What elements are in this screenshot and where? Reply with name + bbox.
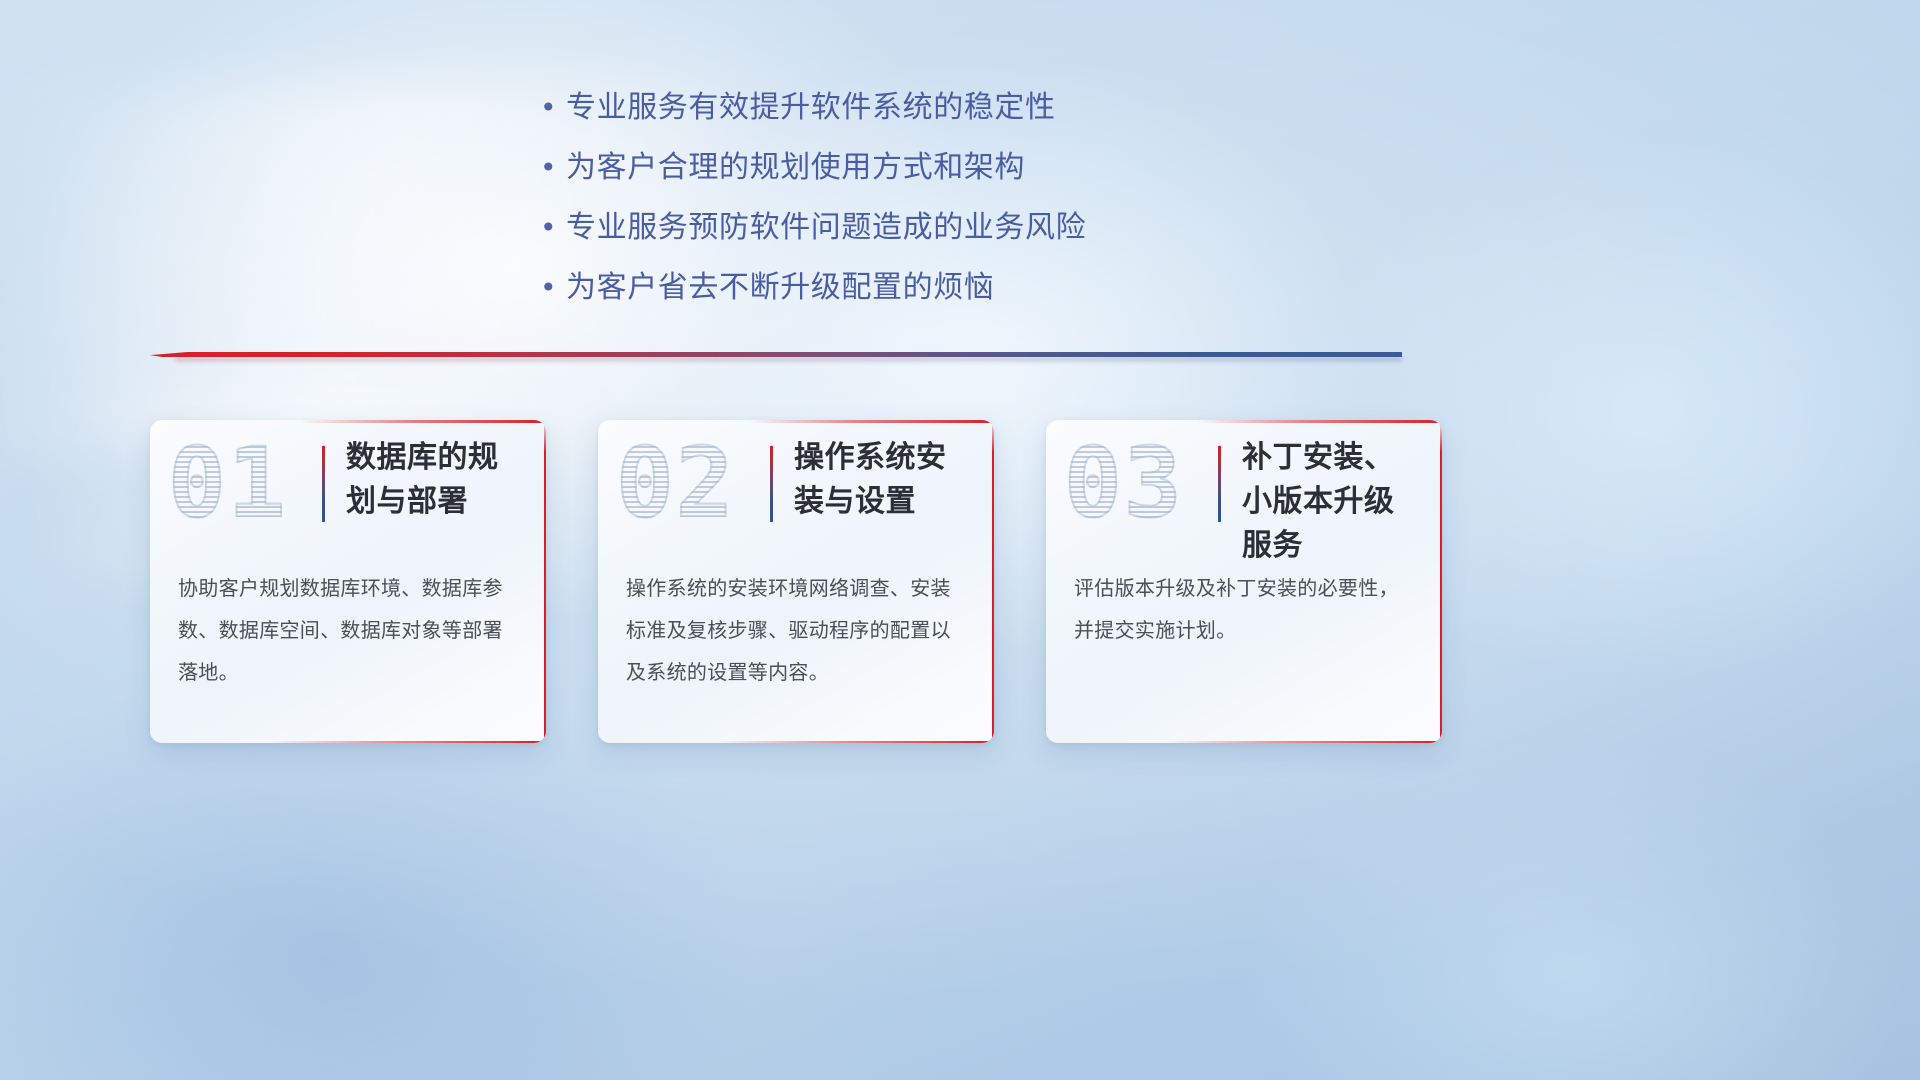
bullet-text: 为客户省去不断升级配置的烦恼 xyxy=(566,268,994,308)
card-title: 补丁安装、小版本升级服务 xyxy=(1242,436,1422,568)
bullet-dot-icon: • xyxy=(540,208,566,248)
card-divider-bar xyxy=(322,446,325,522)
bullet-dot-icon: • xyxy=(540,268,566,308)
card-number: 01 xyxy=(168,428,288,538)
bullet-dot-icon: • xyxy=(540,88,566,128)
card-02[interactable]: 02 操作系统安装与设置 操作系统的安装环境网络调查、安装标准及复核步骤、驱动程… xyxy=(598,420,994,743)
card-divider-bar xyxy=(770,446,773,522)
card-body-text: 评估版本升级及补丁安装的必要性，并提交实施计划。 xyxy=(1074,568,1418,652)
card-header: 03 补丁安装、小版本升级服务 xyxy=(1046,420,1442,548)
bullet-text: 专业服务预防软件问题造成的业务风险 xyxy=(566,208,1086,248)
card-body-text: 协助客户规划数据库环境、数据库参数、数据库空间、数据库对象等部署落地。 xyxy=(178,568,522,694)
card-01[interactable]: 01 数据库的规划与部署 协助客户规划数据库环境、数据库参数、数据库空间、数据库… xyxy=(150,420,546,743)
card-body-text: 操作系统的安装环境网络调查、安装标准及复核步骤、驱动程序的配置以及系统的设置等内… xyxy=(626,568,970,694)
card-bottom-accent xyxy=(269,741,546,744)
bullet-dot-icon: • xyxy=(540,148,566,188)
card-number: 02 xyxy=(616,428,736,538)
card-row: 01 数据库的规划与部署 协助客户规划数据库环境、数据库参数、数据库空间、数据库… xyxy=(0,420,1920,760)
bullet-text: 专业服务有效提升软件系统的稳定性 xyxy=(566,88,1056,128)
bullet-list: • 专业服务有效提升软件系统的稳定性 • 为客户合理的规划使用方式和架构 • 专… xyxy=(540,88,1360,328)
card-bottom-accent xyxy=(717,741,994,744)
list-item: • 专业服务预防软件问题造成的业务风险 xyxy=(540,208,1360,248)
card-divider-bar xyxy=(1218,446,1221,522)
card-03[interactable]: 03 补丁安装、小版本升级服务 评估版本升级及补丁安装的必要性，并提交实施计划。 xyxy=(1046,420,1442,743)
card-header: 01 数据库的规划与部署 xyxy=(150,420,546,548)
list-item: • 专业服务有效提升软件系统的稳定性 xyxy=(540,88,1360,128)
list-item: • 为客户省去不断升级配置的烦恼 xyxy=(540,268,1360,308)
bullet-text: 为客户合理的规划使用方式和架构 xyxy=(566,148,1025,188)
card-header: 02 操作系统安装与设置 xyxy=(598,420,994,548)
divider-shadow xyxy=(175,357,1402,361)
card-title: 操作系统安装与设置 xyxy=(794,436,974,524)
card-bottom-accent xyxy=(1165,741,1442,744)
divider-line xyxy=(150,352,1402,357)
card-number: 03 xyxy=(1064,428,1184,538)
card-title: 数据库的规划与部署 xyxy=(346,436,526,524)
section-divider xyxy=(150,347,1402,363)
list-item: • 为客户合理的规划使用方式和架构 xyxy=(540,148,1360,188)
